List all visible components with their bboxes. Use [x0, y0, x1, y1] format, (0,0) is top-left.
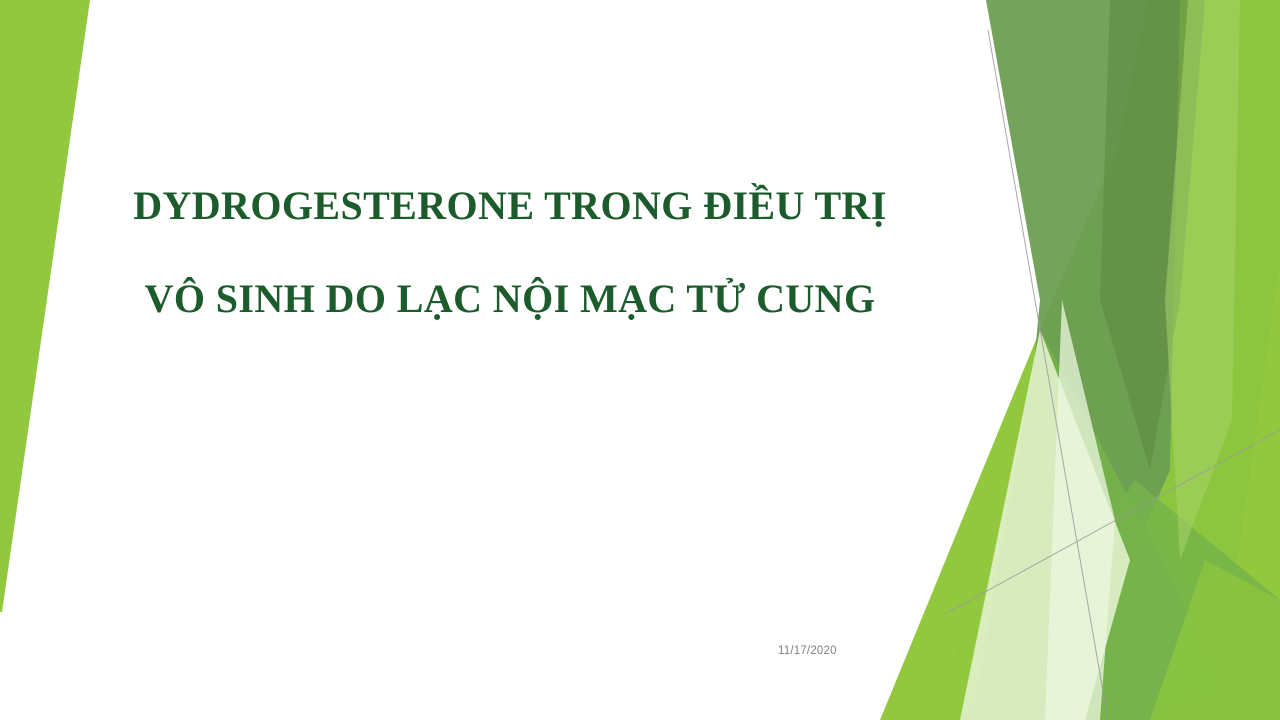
slide-canvas: DYDROGESTERONE TRONG ĐIỀU TRỊ VÔ SINH DO… [0, 0, 1280, 720]
footer-page-number: 7 [955, 644, 962, 659]
footer-date: 11/17/2020 [778, 645, 837, 657]
slide-content: DYDROGESTERONE TRONG ĐIỀU TRỊ VÔ SINH DO… [0, 0, 1280, 720]
slide-title: DYDROGESTERONE TRONG ĐIỀU TRỊ VÔ SINH DO… [110, 185, 910, 320]
slide-title-line-1: DYDROGESTERONE TRONG ĐIỀU TRỊ [110, 185, 910, 227]
slide-title-line-2: VÔ SINH DO LẠC NỘI MẠC TỬ CUNG [110, 278, 910, 320]
